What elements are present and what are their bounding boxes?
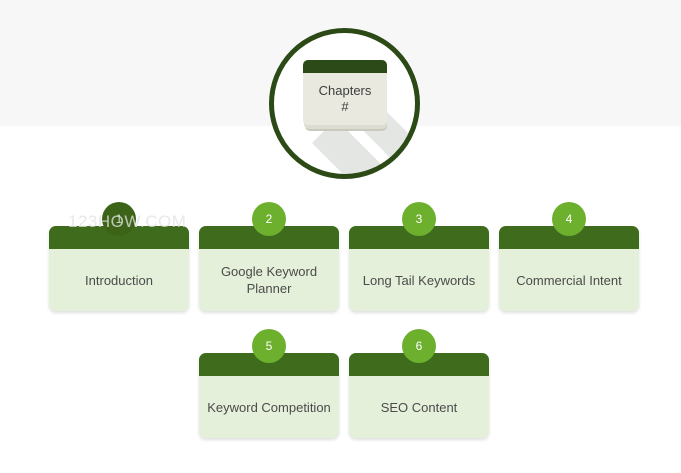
chapter-card-label: Long Tail Keywords (349, 249, 489, 311)
chapter-card[interactable]: 3 Long Tail Keywords (349, 226, 489, 311)
chapter-number-badge: 6 (402, 329, 436, 363)
chapter-card[interactable]: 4 Commercial Intent (499, 226, 639, 311)
chapter-card-label: Commercial Intent (499, 249, 639, 311)
chapter-cards-layer: 1 Introduction 2 Google Keyword Planner … (0, 0, 681, 473)
chapter-number-badge: 4 (552, 202, 586, 236)
infographic-root: Chapters # 1 Introduction 2 Google Keywo… (0, 0, 681, 473)
chapter-number-badge: 5 (252, 329, 286, 363)
chapter-card[interactable]: 5 Keyword Competition (199, 353, 339, 438)
chapter-card[interactable]: 2 Google Keyword Planner (199, 226, 339, 311)
chapter-card-label: SEO Content (349, 376, 489, 438)
chapter-card[interactable]: 6 SEO Content (349, 353, 489, 438)
chapter-card[interactable]: 1 Introduction (49, 226, 189, 311)
chapter-number-badge: 2 (252, 202, 286, 236)
chapter-card-label: Introduction (49, 249, 189, 311)
chapter-card-label: Keyword Competition (199, 376, 339, 438)
chapter-number-badge: 1 (102, 202, 136, 236)
chapter-number-badge: 3 (402, 202, 436, 236)
chapter-card-label: Google Keyword Planner (199, 249, 339, 311)
